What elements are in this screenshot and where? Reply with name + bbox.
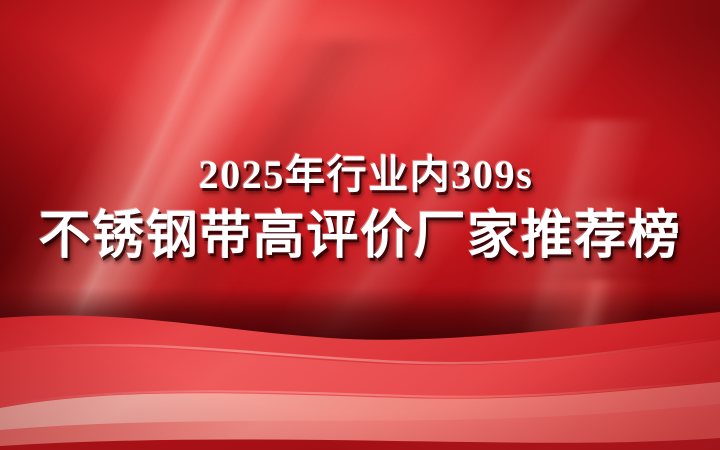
promotional-banner: 2025年行业内309s 不锈钢带高评价厂家推荐榜: [0, 0, 720, 450]
bottom-wave-ribbons: [0, 290, 720, 450]
banner-title-block: 2025年行业内309s 不锈钢带高评价厂家推荐榜: [0, 150, 720, 268]
banner-title-line-1: 2025年行业内309s: [0, 150, 720, 200]
banner-title-line-2: 不锈钢带高评价厂家推荐榜: [0, 206, 720, 268]
